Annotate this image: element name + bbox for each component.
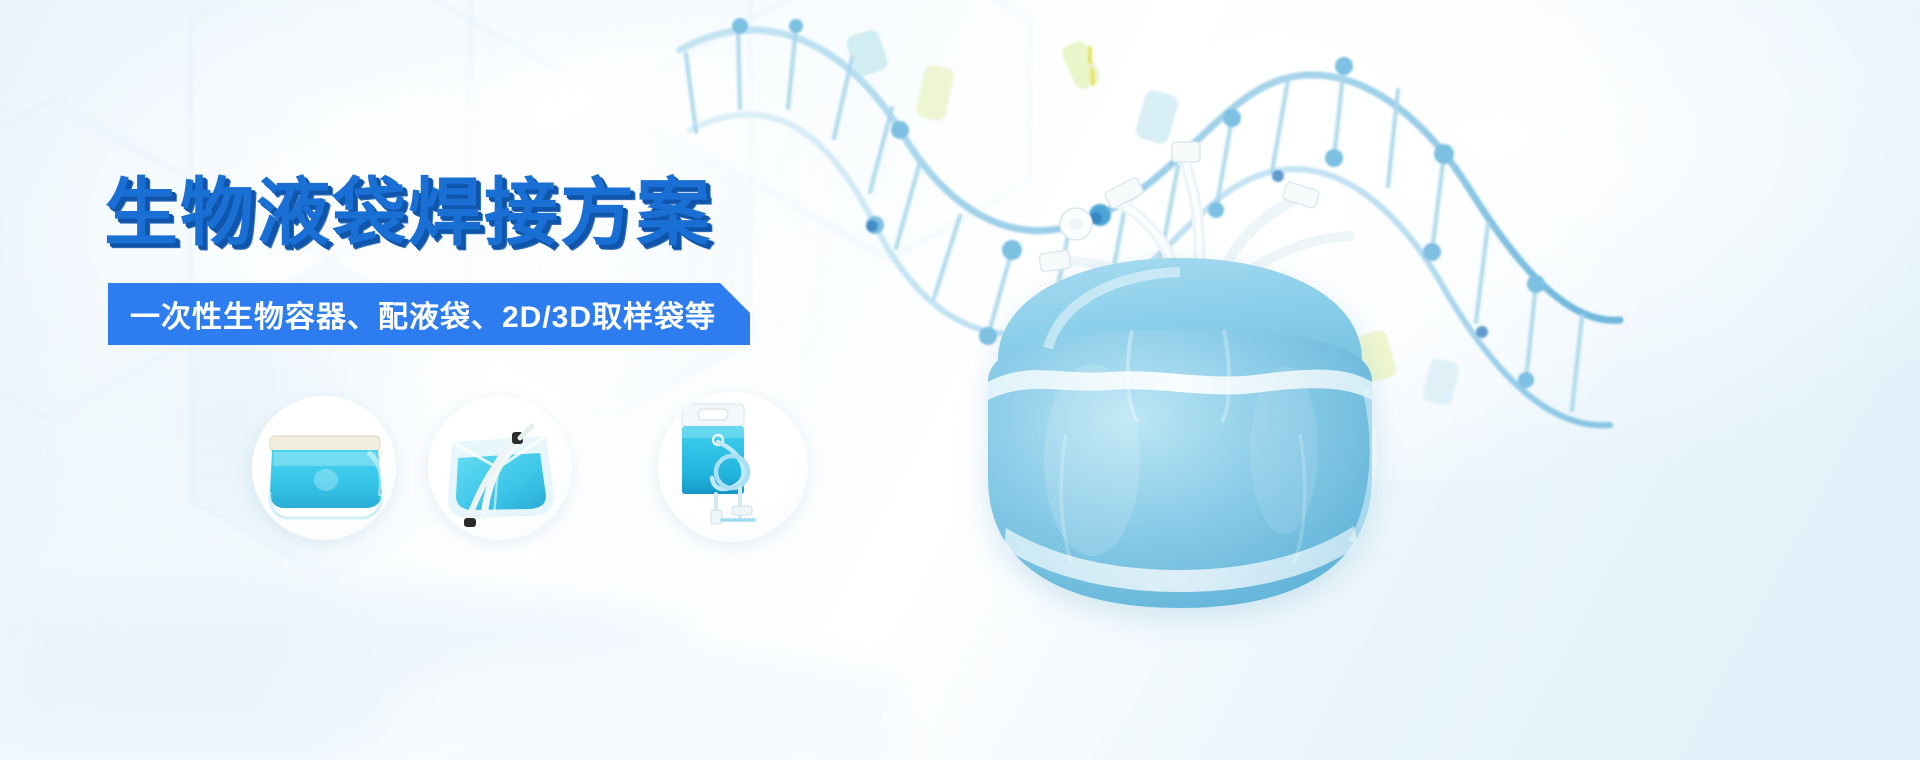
page-title: 生物液袋焊接方案 xyxy=(104,176,712,250)
3d-sampling-bag-thumb[interactable] xyxy=(428,396,572,540)
product-hero-banner: 生物液袋焊接方案 一次性生物容器、配液袋、2D/3D取样袋等 xyxy=(0,0,1920,760)
bag-body xyxy=(988,258,1373,608)
soft-floor-blur xyxy=(0,520,900,760)
subtitle-ribbon: 一次性生物容器、配液袋、2D/3D取样袋等 xyxy=(108,283,750,345)
bioreactor-bag-image xyxy=(880,30,1500,650)
product-thumbnail-group xyxy=(252,392,852,552)
subtitle-text: 一次性生物容器、配液袋、2D/3D取样袋等 xyxy=(130,292,716,336)
2d-liquid-bag-thumb[interactable] xyxy=(252,396,396,540)
bio-container-bag-thumb[interactable] xyxy=(658,392,808,542)
